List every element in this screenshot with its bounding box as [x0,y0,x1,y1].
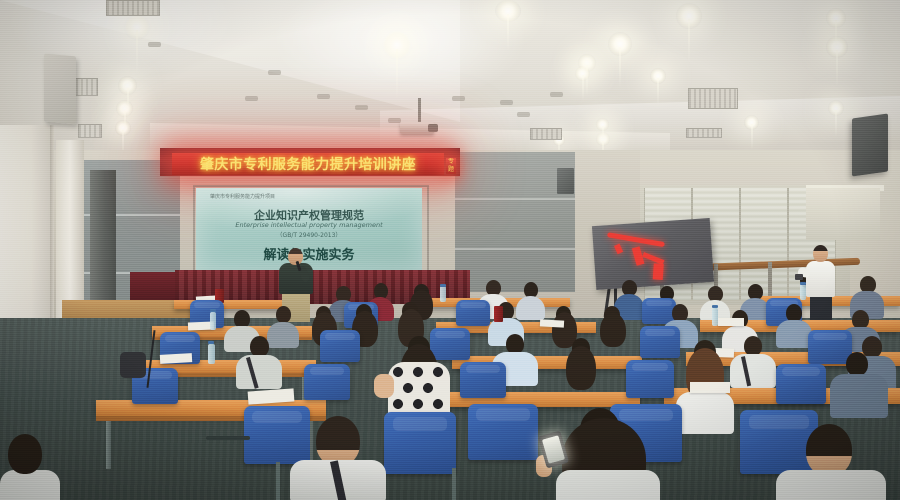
paper-on-table [718,318,744,326]
slide-standard-code: （GB/T 29490-2013） [196,230,422,239]
attendee-head [846,352,868,376]
chair [640,326,680,358]
attendee-head [250,336,269,357]
attendee-body [676,392,734,434]
stage-skirt-left [130,272,178,302]
downlight [608,32,632,56]
wall-speaker-center [557,168,574,194]
seminar-room-photo: 肇庆市专利服务能力提升培训讲座 专题 肇庆市专利服务能力提升项目 企业知识产权管… [0,0,900,500]
chair [430,328,470,360]
bag-on-floor [120,352,146,378]
standing-man-legs [810,296,832,322]
wall-alcove [806,188,880,240]
standing-man-shirt [806,261,835,297]
downlight [116,100,133,117]
chair [244,406,310,464]
downlight [676,3,702,29]
wall-speaker-left [44,54,76,125]
attendee-head [744,336,762,356]
attendee-head [276,306,291,323]
downlight [118,76,137,95]
attendee-body [556,470,660,500]
projector-mount-pole [418,98,421,124]
display-board [592,218,714,290]
attendee-head [506,334,524,354]
chair [460,362,506,398]
chair-armrest [206,436,250,440]
attendee-body [236,355,282,389]
downlight [826,8,846,28]
projection-screen: 肇庆市专利服务能力提升项目 企业知识产权管理规范 Enterprise inte… [196,188,422,270]
downlight [596,118,609,131]
window-blinds [741,188,787,300]
downlight [575,66,590,81]
downlight [744,115,759,130]
window-pane [740,188,788,300]
red-cup [494,306,503,322]
bottle-cap [210,309,216,312]
column-speaker-left [90,170,116,320]
standing-man-phone [795,274,803,280]
water-bottle [208,344,215,364]
chair [776,364,826,404]
air-vent [688,88,738,109]
air-vent [530,128,562,140]
chair [626,360,674,398]
chair [468,404,538,460]
ceiling-fixture [550,92,563,97]
attendee-body [776,470,886,500]
ceiling-fixture [355,105,368,110]
paper-on-table [540,319,564,327]
bottle-cap [712,305,718,308]
chair [304,364,350,400]
chair [456,300,490,326]
paper-on-table [160,353,192,364]
attendee-body [776,320,812,348]
slide-subtitle-cn: 解读与实施实务 [196,244,422,263]
water-bottle [440,286,446,302]
ceiling-fixture [452,96,465,101]
paper-on-table [690,382,730,393]
attendee-body [830,374,888,418]
attendee-body [267,322,299,348]
air-vent [106,0,160,16]
attendee-head [316,416,360,466]
attendee-arm [374,374,394,398]
air-vent [78,124,102,138]
board-artwork-stroke [653,263,664,280]
led-banner-side-panel: 专题 [446,158,456,174]
wall-speaker-right [852,113,888,176]
chair-leg [276,462,280,500]
slide-header: 肇庆市专利服务能力提升项目 [210,193,275,200]
table-leg [106,421,111,469]
ceiling-fixture [268,70,281,75]
attendee-head [8,434,42,474]
chair [384,412,456,474]
air-vent [686,128,722,138]
attendee-head [806,424,852,476]
ceiling-fixture [317,94,330,99]
attendee-hair [566,346,596,390]
attendee-head [862,336,882,358]
ceiling-fixture [388,118,401,123]
attendee-hair [600,313,626,347]
attendee-body [730,354,776,388]
board-artwork-stroke [614,244,623,255]
downlight [124,14,150,40]
downlight [828,100,844,116]
standing-man-head [813,245,828,262]
ceiling-fixture [500,100,513,105]
ceiling-fixture [245,96,258,101]
downlight [826,36,848,58]
attendee-body [516,296,545,320]
projector-lens [428,124,438,132]
led-banner-text: 肇庆市专利服务能力提升培训讲座 [200,154,416,174]
downlight [382,30,412,60]
ceiling-fixture [148,42,161,47]
water-bottle [712,308,718,326]
bottle-cap [440,284,446,287]
water-bottle [210,312,216,330]
chair [320,330,360,362]
downlight [115,120,131,136]
downlight [495,0,521,22]
attendee-body [0,470,60,500]
chair-leg [452,468,456,500]
bottle-cap [208,341,214,344]
ceiling-fixture [517,112,530,117]
slide-title-en: Enterprise intellectual property managem… [196,221,422,229]
downlight [650,68,666,84]
chair [808,330,852,364]
led-banner: 肇庆市专利服务能力提升培训讲座 [172,153,444,175]
